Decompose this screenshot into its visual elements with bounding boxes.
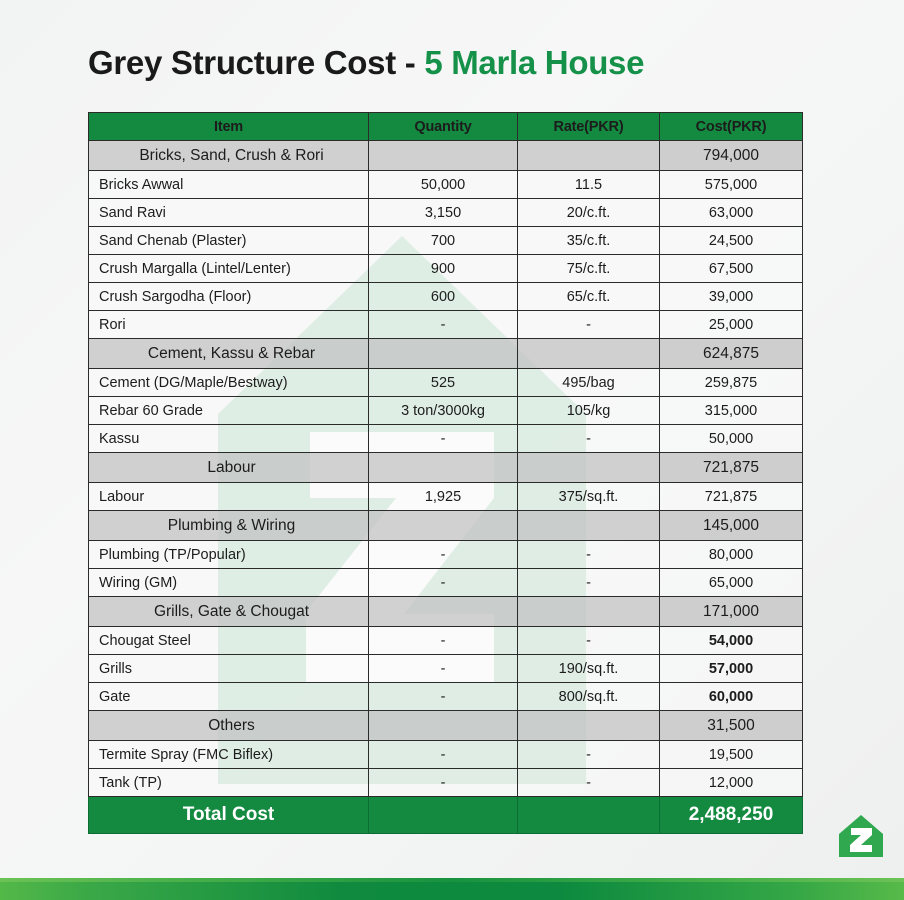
cell-cost: 2,488,250 (660, 797, 803, 834)
cell-quantity: - (369, 425, 518, 453)
table-row: Chougat Steel--54,000 (89, 627, 803, 655)
cell-cost: 721,875 (660, 483, 803, 511)
column-header-item: Item (89, 113, 369, 141)
cell-item: Plumbing & Wiring (89, 511, 369, 541)
cell-cost: 575,000 (660, 171, 803, 199)
cell-cost: 171,000 (660, 597, 803, 627)
zameen-house-z-logo-icon[interactable] (838, 814, 884, 858)
cell-rate (518, 141, 660, 171)
cell-cost: 60,000 (660, 683, 803, 711)
cell-quantity: - (369, 741, 518, 769)
cell-cost: 259,875 (660, 369, 803, 397)
cell-item: Rori (89, 311, 369, 339)
cell-item: Cement, Kassu & Rebar (89, 339, 369, 369)
table-row: Crush Sargodha (Floor)60065/c.ft.39,000 (89, 283, 803, 311)
cell-item: Others (89, 711, 369, 741)
cell-cost: 145,000 (660, 511, 803, 541)
cell-rate: 190/sq.ft. (518, 655, 660, 683)
cell-item: Bricks, Sand, Crush & Rori (89, 141, 369, 171)
cell-quantity: 900 (369, 255, 518, 283)
cell-quantity: 3 ton/3000kg (369, 397, 518, 425)
table-row: Rori--25,000 (89, 311, 803, 339)
page-title: Grey Structure Cost - 5 Marla House (88, 44, 644, 82)
table-group-row: Grills, Gate & Chougat171,000 (89, 597, 803, 627)
table-group-row: Others31,500 (89, 711, 803, 741)
cell-cost: 63,000 (660, 199, 803, 227)
cell-cost: 57,000 (660, 655, 803, 683)
cell-cost: 54,000 (660, 627, 803, 655)
cell-rate (518, 453, 660, 483)
cell-quantity (369, 797, 518, 834)
cell-item: Plumbing (TP/Popular) (89, 541, 369, 569)
cell-rate: 20/c.ft. (518, 199, 660, 227)
cell-rate (518, 797, 660, 834)
table-group-row: Plumbing & Wiring145,000 (89, 511, 803, 541)
table-row: Labour1,925375/sq.ft.721,875 (89, 483, 803, 511)
header-row: Item Quantity Rate(PKR) Cost(PKR) (89, 113, 803, 141)
cell-rate: - (518, 569, 660, 597)
column-header-cost: Cost(PKR) (660, 113, 803, 141)
cell-rate: - (518, 627, 660, 655)
cell-cost: 19,500 (660, 741, 803, 769)
cell-cost: 315,000 (660, 397, 803, 425)
cell-cost: 31,500 (660, 711, 803, 741)
cell-quantity: - (369, 655, 518, 683)
cell-item: Labour (89, 483, 369, 511)
cell-rate: 35/c.ft. (518, 227, 660, 255)
cell-cost: 25,000 (660, 311, 803, 339)
cell-item: Chougat Steel (89, 627, 369, 655)
table-row: Termite Spray (FMC Biflex)--19,500 (89, 741, 803, 769)
cell-quantity (369, 511, 518, 541)
cell-quantity (369, 339, 518, 369)
cell-cost: 624,875 (660, 339, 803, 369)
cell-rate: 11.5 (518, 171, 660, 199)
cell-quantity: 1,925 (369, 483, 518, 511)
cell-quantity: - (369, 569, 518, 597)
grey-structure-cost-table: Item Quantity Rate(PKR) Cost(PKR) Bricks… (88, 112, 803, 834)
cell-item: Sand Chenab (Plaster) (89, 227, 369, 255)
cost-table-container: Item Quantity Rate(PKR) Cost(PKR) Bricks… (88, 112, 802, 834)
cell-cost: 67,500 (660, 255, 803, 283)
table-row: Crush Margalla (Lintel/Lenter)90075/c.ft… (89, 255, 803, 283)
cell-rate: 375/sq.ft. (518, 483, 660, 511)
cell-quantity: 700 (369, 227, 518, 255)
cell-cost: 794,000 (660, 141, 803, 171)
cell-rate: - (518, 425, 660, 453)
cell-item: Sand Ravi (89, 199, 369, 227)
cell-quantity (369, 597, 518, 627)
table-row: Kassu--50,000 (89, 425, 803, 453)
cell-item: Gate (89, 683, 369, 711)
cell-cost: 12,000 (660, 769, 803, 797)
table-row: Grills-190/sq.ft.57,000 (89, 655, 803, 683)
cell-rate: - (518, 741, 660, 769)
table-row: Wiring (GM)--65,000 (89, 569, 803, 597)
table-row: Cement (DG/Maple/Bestway)525495/bag259,8… (89, 369, 803, 397)
cell-quantity (369, 453, 518, 483)
cell-quantity: 50,000 (369, 171, 518, 199)
total-cost-row: Total Cost2,488,250 (89, 797, 803, 834)
cell-rate: 105/kg (518, 397, 660, 425)
cell-rate: - (518, 769, 660, 797)
cell-cost: 80,000 (660, 541, 803, 569)
cell-rate: 495/bag (518, 369, 660, 397)
cell-quantity: - (369, 683, 518, 711)
cell-quantity: - (369, 769, 518, 797)
table-row: Tank (TP)--12,000 (89, 769, 803, 797)
table-group-row: Bricks, Sand, Crush & Rori794,000 (89, 141, 803, 171)
table-group-row: Labour721,875 (89, 453, 803, 483)
table-body: Bricks, Sand, Crush & Rori794,000Bricks … (89, 141, 803, 834)
cell-item: Tank (TP) (89, 769, 369, 797)
cell-item: Labour (89, 453, 369, 483)
table-row: Bricks Awwal50,00011.5575,000 (89, 171, 803, 199)
table-row: Sand Chenab (Plaster)70035/c.ft.24,500 (89, 227, 803, 255)
cell-rate: 75/c.ft. (518, 255, 660, 283)
cell-quantity (369, 711, 518, 741)
cell-item: Crush Sargodha (Floor) (89, 283, 369, 311)
cell-quantity: 3,150 (369, 199, 518, 227)
cell-quantity: - (369, 541, 518, 569)
page-title-accent: 5 Marla House (424, 44, 644, 81)
table-row: Rebar 60 Grade3 ton/3000kg105/kg315,000 (89, 397, 803, 425)
column-header-quantity: Quantity (369, 113, 518, 141)
cell-cost: 721,875 (660, 453, 803, 483)
cell-item: Kassu (89, 425, 369, 453)
table-row: Plumbing (TP/Popular)--80,000 (89, 541, 803, 569)
cell-item: Grills (89, 655, 369, 683)
table-header: Item Quantity Rate(PKR) Cost(PKR) (89, 113, 803, 141)
cell-item: Termite Spray (FMC Biflex) (89, 741, 369, 769)
cell-item: Cement (DG/Maple/Bestway) (89, 369, 369, 397)
cell-item: Bricks Awwal (89, 171, 369, 199)
cell-cost: 50,000 (660, 425, 803, 453)
cell-item: Rebar 60 Grade (89, 397, 369, 425)
cell-quantity (369, 141, 518, 171)
cell-rate (518, 339, 660, 369)
cell-rate (518, 711, 660, 741)
cell-item: Crush Margalla (Lintel/Lenter) (89, 255, 369, 283)
cell-rate: - (518, 541, 660, 569)
cell-cost: 65,000 (660, 569, 803, 597)
cell-cost: 24,500 (660, 227, 803, 255)
cell-quantity: 525 (369, 369, 518, 397)
page-title-main: Grey Structure Cost - (88, 44, 424, 81)
table-row: Sand Ravi3,15020/c.ft.63,000 (89, 199, 803, 227)
cell-cost: 39,000 (660, 283, 803, 311)
bottom-accent-line (0, 878, 904, 882)
cell-quantity: - (369, 311, 518, 339)
cell-quantity: - (369, 627, 518, 655)
cell-item: Wiring (GM) (89, 569, 369, 597)
cell-rate (518, 511, 660, 541)
column-header-rate: Rate(PKR) (518, 113, 660, 141)
cell-rate (518, 597, 660, 627)
cell-rate: 800/sq.ft. (518, 683, 660, 711)
cell-item: Grills, Gate & Chougat (89, 597, 369, 627)
poster-page: Grey Structure Cost - 5 Marla House Item… (0, 0, 904, 900)
cell-rate: - (518, 311, 660, 339)
table-row: Gate-800/sq.ft.60,000 (89, 683, 803, 711)
table-group-row: Cement, Kassu & Rebar624,875 (89, 339, 803, 369)
cell-item: Total Cost (89, 797, 369, 834)
cell-quantity: 600 (369, 283, 518, 311)
cell-rate: 65/c.ft. (518, 283, 660, 311)
